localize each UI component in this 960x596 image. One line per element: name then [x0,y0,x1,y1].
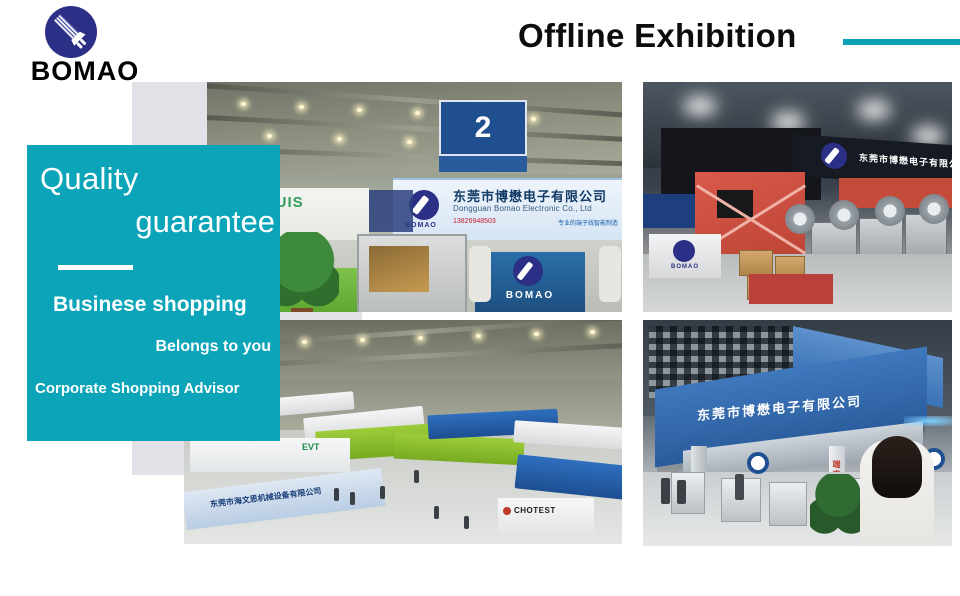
quote-line-belongs: Belongs to you [155,338,271,356]
ceiling-lamp [337,137,342,141]
chotest-label: CHOTEST [514,506,556,515]
visitor-figure [434,506,439,519]
ceiling-lamp [299,105,304,109]
neighbor-blue-banner [643,194,701,228]
wire-reel [919,194,949,224]
evt-label: EVT [302,442,320,452]
haiwen-label-cn: 东莞市海文思机械设备有限公司 [209,485,322,510]
visitor-figure [735,474,744,500]
quote-line-quality: Quality [40,161,139,197]
ceiling-lamp [418,336,423,340]
photo-scene: 东莞市博懋电子有限公司 端壳机 [643,320,952,546]
quality-guarantee-panel: Quality guarantee Businese shopping Belo… [27,145,280,441]
ceiling-lamp [590,330,595,334]
bomao-counter: BOMAO [649,234,721,278]
page-title: Offline Exhibition [518,17,797,55]
bomao-lamp-circle-icon [45,6,97,58]
visitor-figure [334,488,339,501]
booth-company-cn: 东莞市博懋电子有限公司 [859,151,952,172]
potted-plant [810,474,866,546]
ceiling-lamp [534,332,539,336]
quote-line-advisor: Corporate Shopping Advisor [35,380,239,397]
banner-tagline: 专业的端子线智能制造 [558,218,618,227]
visitor-hair [872,436,922,498]
photo-dark-booth-machinery: 东莞市博懋电子有限公司 BOMAO [643,82,952,312]
ceiling-lamp [407,140,412,144]
visitor-figure [599,246,621,302]
wire-reel [785,204,815,234]
bomao-counter: BOMAO [475,252,585,312]
ceiling-lamp [302,340,307,344]
bomao-logo-icon [513,256,543,286]
visitor-figure [860,440,934,546]
visitor-figure [469,246,491,302]
chotest-booth: CHOTEST [498,498,594,534]
visitor-figure [677,480,686,504]
banner-company-cn: 东莞市博懋电子有限公司 [453,186,607,205]
bomao-logo-icon [821,142,847,170]
wire-reel [875,196,905,226]
ceiling-lamp [360,338,365,342]
counter-label: BOMAO [649,264,721,270]
visitor-figure [380,486,385,499]
slide-root: BOMAO Offline Exhibition 2 BOMAO [0,0,960,596]
cardboard-box [739,250,773,276]
ceiling-lamp [531,117,536,121]
bomao-logo-icon [673,240,695,262]
counter-label: BOMAO [475,290,585,301]
photo-blue-canopy-booth: 东莞市博懋电子有限公司 端壳机 [643,320,952,546]
bomao-badge-icon [747,452,769,474]
brand-wordmark: BOMAO [20,58,150,85]
hall-sign-strip [439,156,527,172]
ceiling-lamp [267,134,272,138]
quote-divider [58,265,133,270]
banner-company-en: Dongguan Bomao Electronic Co., Ltd [453,204,592,213]
ceiling-lamp [357,108,362,112]
ceiling-lamp [476,334,481,338]
brand-logo: BOMAO [20,6,150,84]
title-rule-divider [843,39,960,45]
visitor-figure [414,470,419,483]
visitor-figure [661,478,670,504]
wire-machine [769,482,807,526]
evt-booth: EVT [190,438,350,472]
wire-reel [829,200,859,230]
ceiling-lamp [415,111,420,115]
visitor-figure [350,492,355,505]
banner-phone: 13826948503 [453,218,496,225]
bomao-logo-icon [409,190,439,220]
lens-flare [904,416,952,426]
wire-machine [357,234,467,312]
chotest-dot-icon [503,507,511,515]
ceiling-light-glow [857,100,891,120]
ceiling-lamp [241,102,246,106]
ceiling-light-glow [683,96,717,116]
photo-scene: 东莞市博懋电子有限公司 BOMAO [643,82,952,312]
pallet-truck [749,274,833,304]
visitor-figure [464,516,469,529]
quote-line-guarantee: guarantee [135,204,275,240]
quote-line-business: Businese shopping [53,293,247,317]
hall-number-sign: 2 [439,100,527,156]
canopy-company-cn: 东莞市博懋电子有限公司 [697,391,862,425]
booth-banner: BOMAO 东莞市博懋电子有限公司 Dongguan Bomao Electro… [393,178,622,240]
